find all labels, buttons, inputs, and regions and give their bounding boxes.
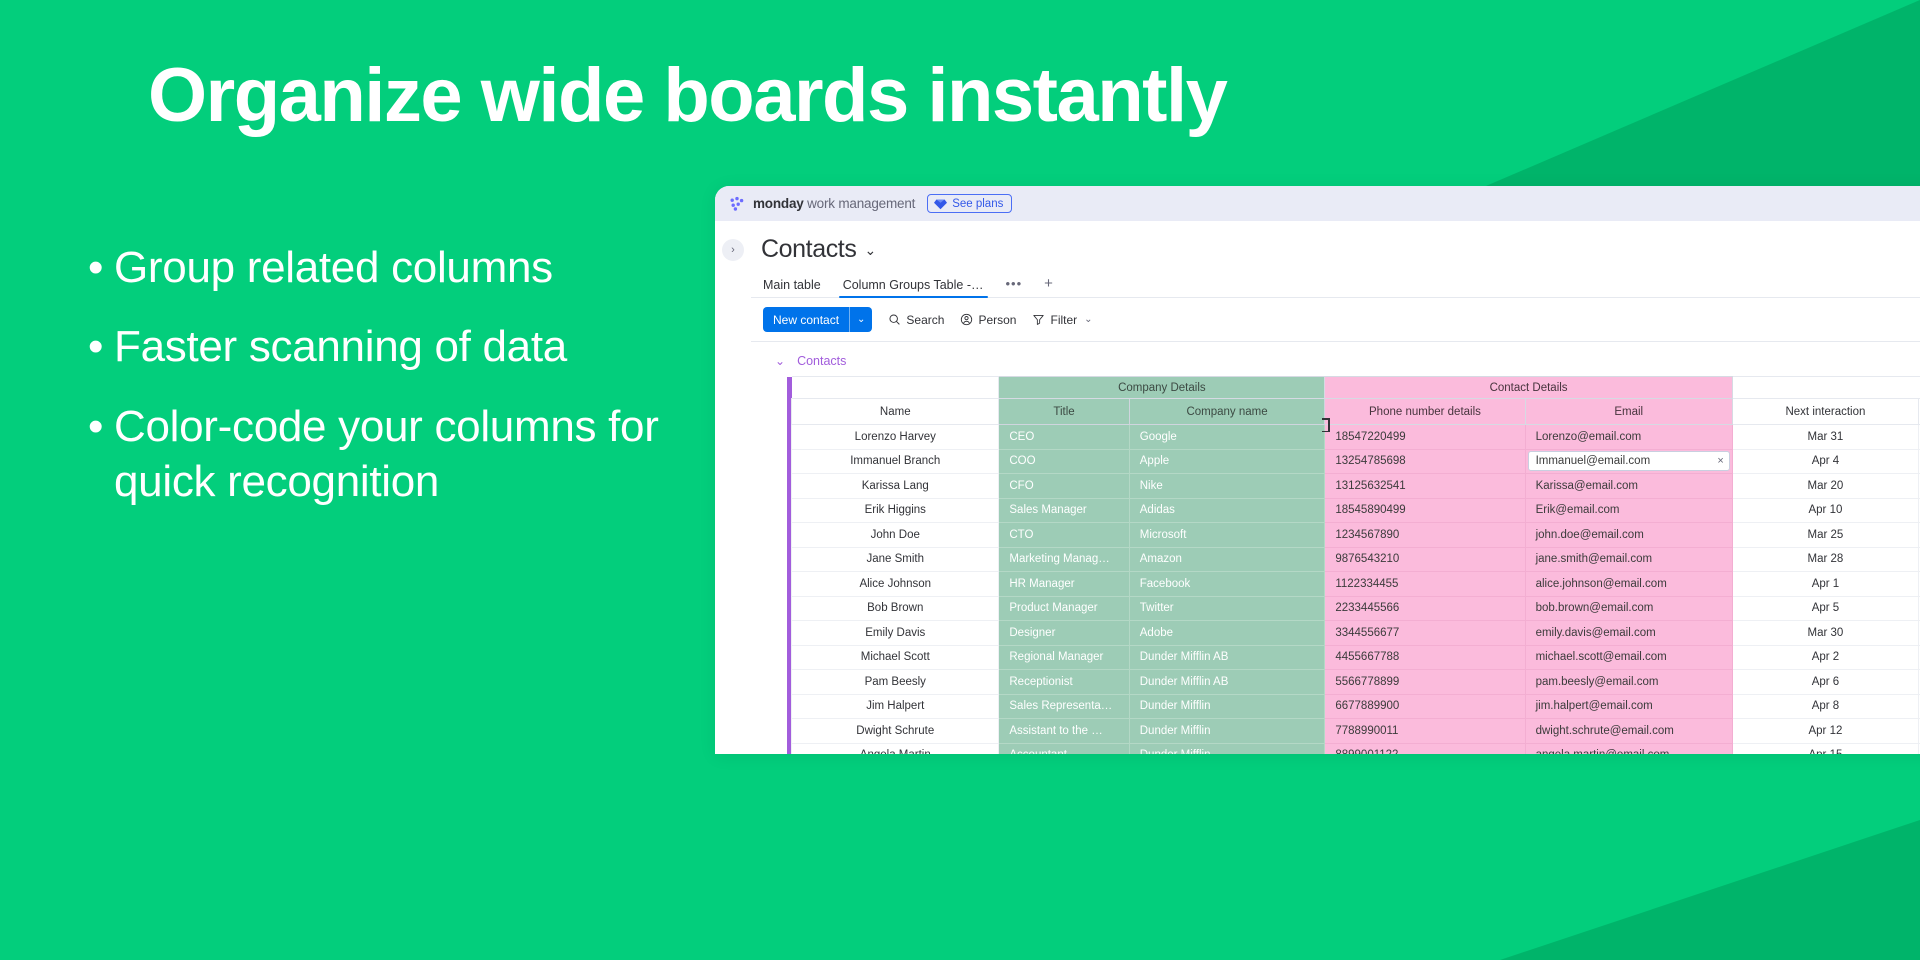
cell-email[interactable]: michael.scott@email.com bbox=[1525, 645, 1732, 670]
cell-company[interactable]: Amazon bbox=[1129, 547, 1325, 572]
cell-name[interactable]: Michael Scott bbox=[792, 645, 999, 670]
cell-phone[interactable]: 1122334455 bbox=[1325, 572, 1525, 597]
cell-title[interactable]: Marketing Manag… bbox=[999, 547, 1129, 572]
table-row[interactable]: Dwight SchruteAssistant to the …Dunder M… bbox=[787, 719, 1920, 744]
bullet-text: Faster scanning of data bbox=[114, 319, 728, 374]
cell-email[interactable]: jane.smith@email.com bbox=[1525, 547, 1732, 572]
contacts-table: Company DetailsContact Details NameTitle… bbox=[787, 376, 1920, 754]
cell-email[interactable]: john.doe@email.com bbox=[1525, 523, 1732, 548]
chevron-right-icon: › bbox=[731, 244, 735, 256]
bullet-text: Group related columns bbox=[114, 240, 728, 295]
tab-main-table[interactable]: Main table bbox=[763, 278, 821, 297]
bullet-list: •Group related columns•Faster scanning o… bbox=[88, 240, 728, 534]
table-row[interactable]: Lorenzo HarveyCEOGoogle18547220499Lorenz… bbox=[787, 425, 1920, 450]
cell-email[interactable]: Erik@email.com bbox=[1525, 498, 1732, 523]
cell-email[interactable]: Karissa@email.com bbox=[1525, 474, 1732, 499]
cell-name[interactable]: Pam Beesly bbox=[792, 670, 999, 695]
cell-phone[interactable]: 4455667788 bbox=[1325, 645, 1525, 670]
cell-phone[interactable]: 6677889900 bbox=[1325, 694, 1525, 719]
search-label: Search bbox=[906, 313, 944, 327]
monday-logo-icon bbox=[729, 196, 745, 212]
table-row[interactable]: Jane SmithMarketing Manag…Amazon98765432… bbox=[787, 547, 1920, 572]
cell-phone[interactable]: 8899001122 bbox=[1325, 743, 1525, 754]
cell-name[interactable]: Jim Halpert bbox=[792, 694, 999, 719]
cell-next[interactable]: Mar 25 bbox=[1732, 523, 1918, 548]
cell-title[interactable]: Sales Manager bbox=[999, 498, 1129, 523]
see-plans-button[interactable]: See plans bbox=[927, 194, 1012, 213]
cell-title[interactable]: Accountant bbox=[999, 743, 1129, 754]
column-group-company-details[interactable]: Company Details bbox=[999, 377, 1325, 399]
cell-company[interactable]: Google bbox=[1129, 425, 1325, 450]
cell-company[interactable]: Dunder Mifflin bbox=[1129, 694, 1325, 719]
cell-title[interactable]: COO bbox=[999, 449, 1129, 474]
column-group-header-row: Company DetailsContact Details bbox=[787, 377, 1920, 399]
table-row[interactable]: Emily DavisDesignerAdobe3344556677emily.… bbox=[787, 621, 1920, 646]
cell-title[interactable]: CEO bbox=[999, 425, 1129, 450]
bullet-item: •Faster scanning of data bbox=[88, 319, 728, 374]
filter-label: Filter bbox=[1050, 313, 1077, 327]
cell-phone[interactable]: 18545890499 bbox=[1325, 498, 1525, 523]
cell-company[interactable]: Adidas bbox=[1129, 498, 1325, 523]
cell-next[interactable]: Mar 30 bbox=[1732, 621, 1918, 646]
cell-name[interactable]: Emily Davis bbox=[792, 621, 999, 646]
table-scroll-region[interactable]: Company DetailsContact Details NameTitle… bbox=[751, 376, 1920, 754]
cell-next[interactable]: Apr 2 bbox=[1732, 645, 1918, 670]
column-group-empty[interactable] bbox=[1732, 377, 1920, 399]
table-row[interactable]: Pam BeeslyReceptionistDunder Mifflin AB5… bbox=[787, 670, 1920, 695]
table-body: Lorenzo HarveyCEOGoogle18547220499Lorenz… bbox=[787, 425, 1920, 755]
bullet-dot-icon: • bbox=[88, 399, 114, 510]
cell-next[interactable]: Apr 4 bbox=[1732, 449, 1918, 474]
cell-name[interactable]: Erik Higgins bbox=[792, 498, 999, 523]
cell-company[interactable]: Apple bbox=[1129, 449, 1325, 474]
chevron-down-icon[interactable]: ⌄ bbox=[1084, 314, 1092, 325]
table-row[interactable]: Immanuel BranchCOOApple13254785698Immanu… bbox=[787, 449, 1920, 474]
cell-email[interactable]: bob.brown@email.com bbox=[1525, 596, 1732, 621]
chevron-down-icon[interactable]: ⌄ bbox=[775, 354, 785, 368]
brand-name: monday work management bbox=[753, 196, 915, 211]
person-filter-button[interactable]: Person bbox=[960, 313, 1016, 327]
app-window: monday work management See plans › Conta… bbox=[715, 186, 1920, 754]
app-topbar: monday work management See plans bbox=[715, 186, 1920, 221]
table-row[interactable]: Angela MartinAccountantDunder Mifflin889… bbox=[787, 743, 1920, 754]
cell-next[interactable]: Apr 12 bbox=[1732, 719, 1918, 744]
cell-phone[interactable]: 1234567890 bbox=[1325, 523, 1525, 548]
column-group-contact-details[interactable]: Contact Details bbox=[1325, 377, 1732, 399]
text-cursor-icon bbox=[1325, 418, 1327, 432]
board-title: Contacts bbox=[761, 235, 856, 264]
app-body: › Contacts ⌄ Main table Column Groups Ta… bbox=[715, 221, 1920, 754]
cell-next[interactable]: Apr 15 bbox=[1732, 743, 1918, 754]
cell-company[interactable]: Microsoft bbox=[1129, 523, 1325, 548]
cell-company[interactable]: Dunder Mifflin AB bbox=[1129, 645, 1325, 670]
bullet-dot-icon: • bbox=[88, 240, 114, 295]
cell-phone[interactable]: 5566778899 bbox=[1325, 670, 1525, 695]
sidebar-expand-button[interactable]: › bbox=[722, 239, 744, 261]
column-header-next[interactable]: Next interaction bbox=[1732, 399, 1918, 425]
column-header-phone[interactable]: Phone number details bbox=[1325, 399, 1525, 425]
cell-title[interactable]: Product Manager bbox=[999, 596, 1129, 621]
cell-title[interactable]: Sales Representa… bbox=[999, 694, 1129, 719]
cell-email[interactable]: emily.davis@email.com bbox=[1525, 621, 1732, 646]
cell-name[interactable]: Alice Johnson bbox=[792, 572, 999, 597]
cell-name[interactable]: John Doe bbox=[792, 523, 999, 548]
column-header-email[interactable]: Email bbox=[1525, 399, 1732, 425]
cell-name[interactable]: Angela Martin bbox=[792, 743, 999, 754]
bullet-item: •Group related columns bbox=[88, 240, 728, 295]
table-row[interactable]: John DoeCTOMicrosoft1234567890john.doe@e… bbox=[787, 523, 1920, 548]
cell-phone[interactable]: 3344556677 bbox=[1325, 621, 1525, 646]
cell-company[interactable]: Dunder Mifflin AB bbox=[1129, 670, 1325, 695]
cell-next[interactable]: Mar 31 bbox=[1732, 425, 1918, 450]
table-row[interactable]: Erik HigginsSales ManagerAdidas185458904… bbox=[787, 498, 1920, 523]
cell-phone[interactable]: 18547220499 bbox=[1325, 425, 1525, 450]
cell-phone[interactable]: 2233445566 bbox=[1325, 596, 1525, 621]
see-plans-label: See plans bbox=[952, 198, 1003, 210]
cell-title[interactable]: Receptionist bbox=[999, 670, 1129, 695]
bullet-item: •Color-code your columns for quick recog… bbox=[88, 399, 728, 510]
cell-next[interactable]: Apr 1 bbox=[1732, 572, 1918, 597]
board-toolbar: New contact ⌄ Search Person bbox=[751, 298, 1920, 342]
cell-email[interactable]: pam.beesly@email.com bbox=[1525, 670, 1732, 695]
search-icon bbox=[888, 313, 901, 326]
table-row[interactable]: Alice JohnsonHR ManagerFacebook112233445… bbox=[787, 572, 1920, 597]
sidebar-rail: › bbox=[715, 221, 751, 754]
table-row[interactable]: Karissa LangCFONike13125632541Karissa@em… bbox=[787, 474, 1920, 499]
cell-email[interactable]: jim.halpert@email.com bbox=[1525, 694, 1732, 719]
cell-next[interactable]: Apr 8 bbox=[1732, 694, 1918, 719]
tab-add-icon[interactable]: + bbox=[1044, 275, 1053, 297]
table-row[interactable]: Jim HalpertSales Representa…Dunder Miffl… bbox=[787, 694, 1920, 719]
cell-title[interactable]: HR Manager bbox=[999, 572, 1129, 597]
group-name[interactable]: Contacts bbox=[797, 354, 846, 368]
cell-company[interactable]: Dunder Mifflin bbox=[1129, 719, 1325, 744]
tab-more-icon[interactable]: ••• bbox=[1006, 276, 1023, 297]
table-row[interactable]: Bob BrownProduct ManagerTwitter223344556… bbox=[787, 596, 1920, 621]
cell-email[interactable]: angela.martin@email.com bbox=[1525, 743, 1732, 754]
cell-next[interactable]: Apr 6 bbox=[1732, 670, 1918, 695]
bullet-dot-icon: • bbox=[88, 319, 114, 374]
cell-email[interactable]: alice.johnson@email.com bbox=[1525, 572, 1732, 597]
filter-icon bbox=[1032, 313, 1045, 326]
person-icon bbox=[960, 313, 973, 326]
column-header-row: NameTitleCompany namePhone number detail… bbox=[787, 399, 1920, 425]
cell-company[interactable]: Facebook bbox=[1129, 572, 1325, 597]
new-contact-label: New contact bbox=[763, 313, 849, 327]
cell-title[interactable]: CFO bbox=[999, 474, 1129, 499]
gem-icon bbox=[934, 197, 947, 210]
cell-company[interactable]: Dunder Mifflin bbox=[1129, 743, 1325, 754]
main-column: Contacts ⌄ Main table Column Groups Tabl… bbox=[751, 221, 1920, 754]
cell-company[interactable]: Adobe bbox=[1129, 621, 1325, 646]
cell-next[interactable]: Apr 10 bbox=[1732, 498, 1918, 523]
cell-title[interactable]: Regional Manager bbox=[999, 645, 1129, 670]
cell-name[interactable]: Immanuel Branch bbox=[792, 449, 999, 474]
filter-button[interactable]: Filter ⌄ bbox=[1032, 313, 1092, 327]
cell-title[interactable]: Assistant to the … bbox=[999, 719, 1129, 744]
cell-company[interactable]: Nike bbox=[1129, 474, 1325, 499]
column-group-empty[interactable] bbox=[792, 377, 999, 399]
person-label: Person bbox=[978, 313, 1016, 327]
cell-next[interactable]: Apr 5 bbox=[1732, 596, 1918, 621]
new-contact-button[interactable]: New contact ⌄ bbox=[763, 307, 872, 332]
background-accent-bottom bbox=[1500, 820, 1920, 960]
group-header: ⌄ Contacts bbox=[751, 342, 1920, 376]
cell-name[interactable]: Lorenzo Harvey bbox=[792, 425, 999, 450]
page-title: Organize wide boards instantly bbox=[148, 58, 1548, 134]
board-tabs: Main table Column Groups Table -… ••• + bbox=[751, 272, 1920, 298]
search-button[interactable]: Search bbox=[888, 313, 944, 327]
cell-name[interactable]: Karissa Lang bbox=[792, 474, 999, 499]
column-header-company[interactable]: Company name bbox=[1129, 399, 1325, 425]
tab-column-groups-table[interactable]: Column Groups Table -… bbox=[843, 278, 984, 297]
cell-name[interactable]: Dwight Schrute bbox=[792, 719, 999, 744]
cell-name[interactable]: Jane Smith bbox=[792, 547, 999, 572]
cell-next[interactable]: Mar 28 bbox=[1732, 547, 1918, 572]
table-row[interactable]: Michael ScottRegional ManagerDunder Miff… bbox=[787, 645, 1920, 670]
board-header: Contacts ⌄ bbox=[751, 221, 1920, 264]
bullet-text: Color-code your columns for quick recogn… bbox=[114, 399, 728, 510]
email-edit-field[interactable]: Immanuel@email.com× bbox=[1528, 451, 1730, 471]
cell-name[interactable]: Bob Brown bbox=[792, 596, 999, 621]
close-icon[interactable]: × bbox=[1717, 455, 1723, 467]
cell-next[interactable]: Mar 20 bbox=[1732, 474, 1918, 499]
cell-email[interactable]: Immanuel@email.com× bbox=[1525, 449, 1732, 474]
column-header-title[interactable]: Title bbox=[999, 399, 1129, 425]
cell-phone[interactable]: 7788990011 bbox=[1325, 719, 1525, 744]
cell-phone[interactable]: 13254785698 bbox=[1325, 449, 1525, 474]
chevron-down-icon[interactable]: ⌄ bbox=[850, 314, 872, 325]
cell-company[interactable]: Twitter bbox=[1129, 596, 1325, 621]
column-header-name[interactable]: Name bbox=[792, 399, 999, 425]
chevron-down-icon[interactable]: ⌄ bbox=[864, 243, 876, 257]
cell-email[interactable]: dwight.schrute@email.com bbox=[1525, 719, 1732, 744]
cell-title[interactable]: CTO bbox=[999, 523, 1129, 548]
cell-email[interactable]: Lorenzo@email.com bbox=[1525, 425, 1732, 450]
email-edit-value: Immanuel@email.com bbox=[1536, 455, 1651, 467]
cell-title[interactable]: Designer bbox=[999, 621, 1129, 646]
cell-phone[interactable]: 9876543210 bbox=[1325, 547, 1525, 572]
cell-phone[interactable]: 13125632541 bbox=[1325, 474, 1525, 499]
